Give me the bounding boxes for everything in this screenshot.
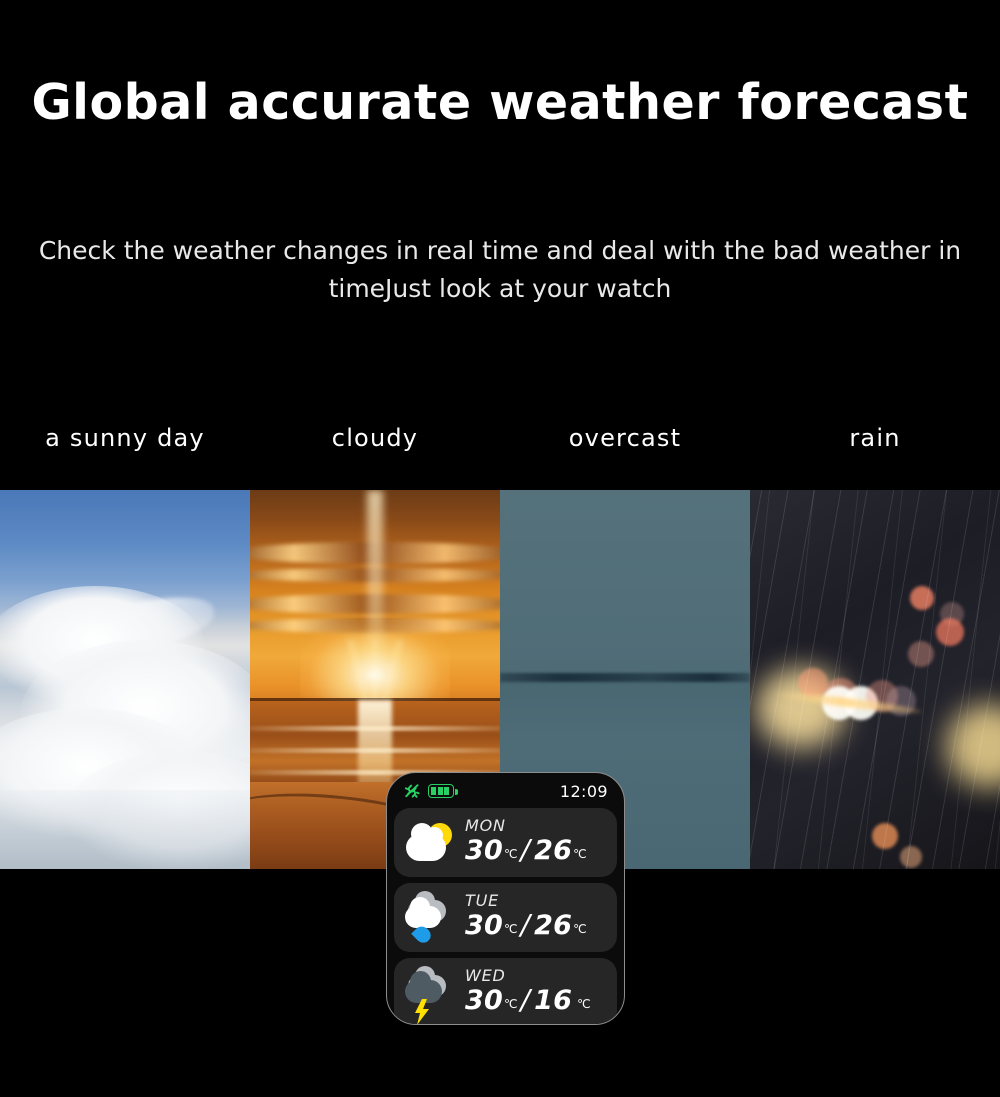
forecast-day-label: TUE bbox=[465, 891, 499, 910]
forecast-low-unit: ℃ bbox=[573, 914, 586, 944]
disconnected-link-icon bbox=[403, 783, 421, 799]
smartwatch-weather-widget[interactable]: 12:09 MON 30 ℃ / 26 ℃ bbox=[386, 772, 625, 1025]
sun-behind-cloud-icon bbox=[403, 816, 457, 870]
forecast-low-unit: ℃ bbox=[577, 989, 590, 1019]
forecast-high-unit: ℃ bbox=[504, 914, 517, 944]
forecast-low: 26 bbox=[534, 836, 572, 866]
temperature-separator: / bbox=[520, 985, 530, 1015]
forecast-low: 26 bbox=[534, 911, 572, 941]
category-label-cloudy: cloudy bbox=[250, 418, 500, 458]
wave-foam bbox=[250, 748, 500, 753]
category-label-rain: rain bbox=[750, 418, 1000, 458]
forecast-day-label: MON bbox=[465, 816, 506, 835]
forecast-row-wed[interactable]: WED 30 ℃ / 16 ℃ bbox=[394, 958, 617, 1025]
forecast-low-unit: ℃ bbox=[573, 839, 586, 869]
forecast-high-unit: ℃ bbox=[504, 839, 517, 869]
temperature-separator: / bbox=[520, 835, 530, 865]
forecast-temperature: 30 ℃ / 26 ℃ bbox=[465, 910, 587, 945]
page-subtitle: Check the weather changes in real time a… bbox=[0, 232, 1000, 308]
forecast-low: 16 bbox=[534, 986, 572, 1016]
rain-bokeh-lights-photo bbox=[750, 490, 1000, 869]
category-label-overcast: overcast bbox=[500, 418, 750, 458]
sunny-sky-clouds-photo bbox=[0, 490, 250, 869]
distant-shore-line bbox=[500, 673, 750, 682]
forecast-temperature: 30 ℃ / 16 ℃ bbox=[465, 985, 591, 1020]
forecast-day-label: WED bbox=[465, 966, 506, 985]
category-label-row: a sunny day cloudy overcast rain bbox=[0, 418, 1000, 458]
category-label-sunny: a sunny day bbox=[0, 418, 250, 458]
wave-foam bbox=[250, 726, 500, 731]
forecast-high: 30 bbox=[465, 836, 503, 866]
battery-icon bbox=[428, 784, 454, 798]
rain-streaks bbox=[750, 490, 1000, 869]
forecast-high-unit: ℃ bbox=[504, 989, 517, 1019]
watch-status-bar: 12:09 bbox=[394, 780, 617, 802]
cloud-haze bbox=[0, 790, 250, 869]
rain-cloud-icon bbox=[403, 891, 457, 945]
page-title: Global accurate weather forecast bbox=[0, 72, 1000, 134]
forecast-row-tue[interactable]: TUE 30 ℃ / 26 ℃ bbox=[394, 883, 617, 952]
forecast-high: 30 bbox=[465, 911, 503, 941]
thunderstorm-cloud-icon bbox=[403, 966, 457, 1020]
watch-clock-time: 12:09 bbox=[560, 782, 610, 801]
temperature-separator: / bbox=[520, 910, 530, 940]
weather-promo-page: Global accurate weather forecast Check t… bbox=[0, 0, 1000, 1097]
forecast-high: 30 bbox=[465, 986, 503, 1016]
forecast-row-mon[interactable]: MON 30 ℃ / 26 ℃ bbox=[394, 808, 617, 877]
forecast-temperature: 30 ℃ / 26 ℃ bbox=[465, 835, 587, 870]
